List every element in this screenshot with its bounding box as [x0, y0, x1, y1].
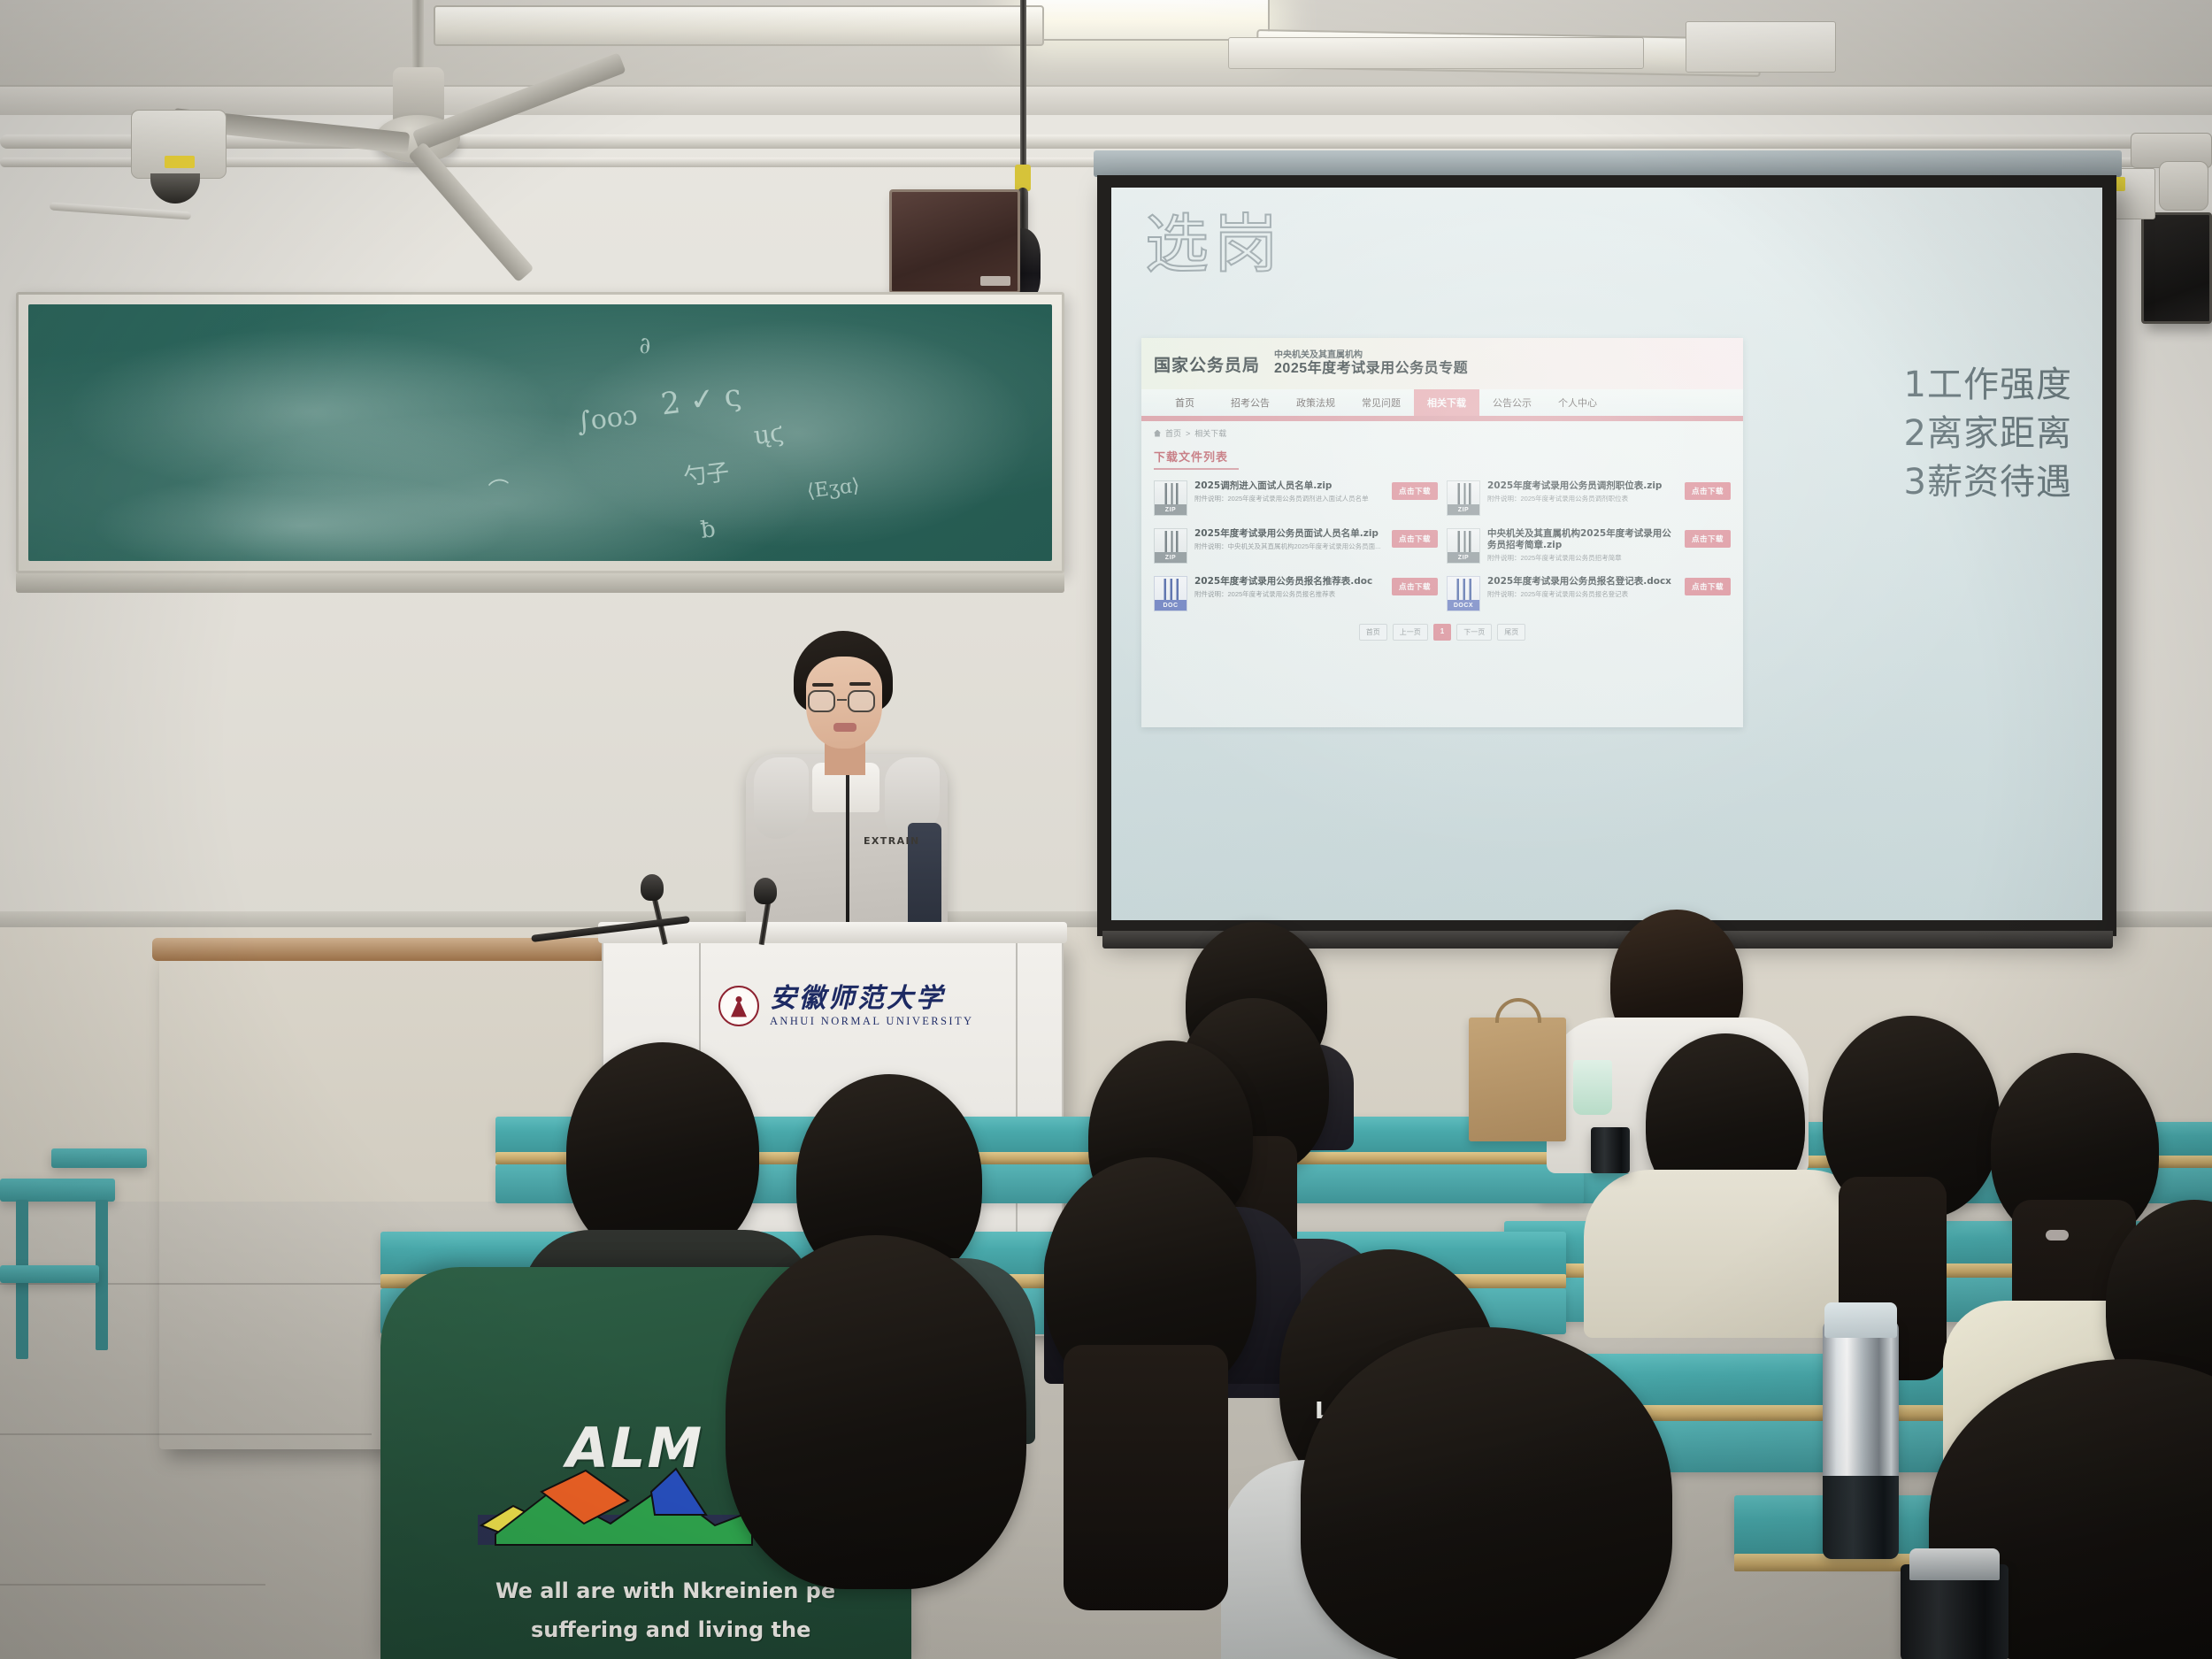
thermos-cap — [1824, 1302, 1897, 1338]
file-description: 附件说明：2025年度考试录用公务员招考简章 — [1487, 554, 1678, 562]
file-description: 附件说明：2025年度考试录用公务员调剂进入面试人员名单 — [1194, 495, 1385, 503]
ceiling-panel — [1228, 37, 1644, 69]
file-row[interactable]: DOC 2025年度考试录用公务员报名推荐表.doc 附件说明：2025年度考试… — [1154, 572, 1438, 615]
zip-file-icon: ZIP — [1154, 480, 1187, 516]
audience-head-foreground — [726, 1235, 1026, 1589]
speaker-glasses-right — [848, 690, 875, 712]
speaker-mouth — [833, 723, 856, 732]
file-name[interactable]: 2025年度考试录用公务员报名推荐表.doc — [1194, 576, 1385, 588]
projection-screen-frame: 选岗 1工作强度 2离家距离 3薪资待遇 国家公务员局 中央机关及其直属机构 2… — [1097, 175, 2116, 936]
doc-file-icon: DOC — [1154, 576, 1187, 611]
site-subtitle-line2: 2025年度考试录用公务员专题 — [1274, 361, 1468, 377]
side-desk-upper — [51, 1148, 147, 1168]
pagination[interactable]: 首页 上一页 1 下一页 尾页 — [1141, 615, 1743, 641]
download-button[interactable]: 点击下载 — [1392, 482, 1438, 500]
podium-mic-head — [641, 874, 664, 901]
download-list-heading: 下载文件列表 — [1141, 442, 1743, 470]
classroom-scene: ∂ 2 ✓ ς ∫ooɔ ųϛ 勺子 ⟨Eʒɑ⟩ ƀ ⌒ 选岗 1工作强度 2离… — [0, 0, 2212, 1659]
file-name[interactable]: 2025年度考试录用公务员面试人员名单.zip — [1194, 528, 1385, 540]
speaker-eyebrow-left — [812, 683, 833, 687]
chalkboard-frame: ∂ 2 ✓ ς ∫ooɔ ųϛ 勺子 ⟨Eʒɑ⟩ ƀ ⌒ — [16, 292, 1064, 573]
docx-file-icon: DOCX — [1447, 576, 1480, 611]
security-camera — [131, 110, 227, 179]
file-type-tag: ZIP — [1155, 552, 1187, 563]
hanging-mic-stem — [1020, 0, 1026, 166]
download-button[interactable]: 点击下载 — [1685, 530, 1731, 548]
chalkboard: ∂ 2 ✓ ς ∫ooɔ ųϛ 勺子 ⟨Eʒɑ⟩ ƀ ⌒ — [28, 304, 1052, 561]
speaker-hood-left — [754, 757, 809, 839]
green-shirt-mountain-logo — [478, 1460, 770, 1557]
projector-body — [2159, 161, 2208, 211]
nav-item-announcements[interactable]: 招考公告 — [1217, 389, 1283, 416]
ceiling-light — [434, 5, 1044, 46]
side-desk — [0, 1179, 115, 1202]
nav-item-policy[interactable]: 政策法规 — [1283, 389, 1348, 416]
slide-bullet-list: 1工作强度 2离家距离 3薪资待遇 — [1904, 361, 2072, 508]
file-type-tag: ZIP — [1448, 552, 1479, 563]
floor-seam — [0, 1584, 265, 1586]
file-name[interactable]: 2025年度考试录用公务员调剂职位表.zip — [1487, 480, 1678, 492]
speaker-jacket-logo: EXTRAIN — [864, 835, 920, 847]
home-icon — [1154, 430, 1161, 437]
camera-label — [165, 156, 195, 168]
download-button[interactable]: 点击下载 — [1392, 578, 1438, 595]
fan-rod — [412, 0, 424, 74]
speaker-badge — [980, 276, 1010, 286]
file-name[interactable]: 2025年度考试录用公务员报名登记表.docx — [1487, 576, 1678, 588]
file-type-tag: ZIP — [1448, 504, 1479, 515]
slide-bullet-3: 3薪资待遇 — [1904, 458, 2072, 507]
file-type-tag: DOCX — [1448, 600, 1479, 611]
pagination-last[interactable]: 尾页 — [1497, 624, 1525, 641]
pagination-first[interactable]: 首页 — [1359, 624, 1387, 641]
file-row[interactable]: DOCX 2025年度考试录用公务员报名登记表.docx 附件说明：2025年度… — [1447, 572, 1731, 615]
site-nav[interactable]: 首页 招考公告 政策法规 常见问题 相关下载 公告公示 个人中心 — [1141, 389, 1743, 416]
speaker-glasses-left — [808, 690, 835, 712]
university-name-cn: 安徽师范大学 — [770, 984, 973, 1013]
podium-university-logo: 安徽师范大学 ANHUI NORMAL UNIVERSITY — [718, 984, 1010, 1028]
pagination-prev[interactable]: 上一页 — [1393, 624, 1428, 641]
site-brand: 国家公务员局 — [1154, 352, 1260, 376]
podium-side-top — [152, 938, 612, 961]
green-shirt-line2: suffering and living the — [531, 1617, 810, 1642]
file-list: ZIP 2025调剂进入面试人员名单.zip 附件说明：2025年度考试录用公务… — [1141, 470, 1743, 615]
download-button[interactable]: 点击下载 — [1685, 482, 1731, 500]
nav-item-faq[interactable]: 常见问题 — [1348, 389, 1414, 416]
site-subtitle-line1: 中央机关及其直属机构 — [1274, 350, 1468, 360]
pagination-next[interactable]: 下一页 — [1456, 624, 1492, 641]
nav-item-home[interactable]: 首页 — [1152, 389, 1217, 416]
file-type-tag: DOC — [1155, 600, 1187, 611]
nav-item-downloads[interactable]: 相关下载 — [1414, 389, 1479, 416]
university-seal-icon — [718, 986, 759, 1026]
desk-item — [1591, 1127, 1630, 1173]
wall-speaker-left — [889, 189, 1020, 294]
file-name[interactable]: 2025调剂进入面试人员名单.zip — [1194, 480, 1385, 492]
download-button[interactable]: 点击下载 — [1685, 578, 1731, 595]
site-header: 国家公务员局 中央机关及其直属机构 2025年度考试录用公务员专题 — [1141, 338, 1743, 389]
university-name-en: ANHUI NORMAL UNIVERSITY — [770, 1016, 973, 1028]
podium-mic-head — [754, 878, 777, 904]
zip-file-icon: ZIP — [1447, 480, 1480, 516]
screen-roller — [1094, 150, 2122, 177]
audience-head-foreground — [1301, 1327, 1672, 1659]
slide-bullet-2: 2离家距离 — [1904, 410, 2072, 458]
audience-head — [566, 1042, 759, 1262]
slide-title: 选岗 — [1145, 212, 1283, 276]
file-name[interactable]: 中央机关及其直属机构2025年度考试录用公务员招考简章.zip — [1487, 528, 1678, 551]
speaker-glasses-bridge — [837, 699, 847, 701]
side-desk-shelf — [0, 1265, 99, 1283]
speaker-eyebrow-right — [849, 682, 871, 686]
ceiling-light — [1022, 0, 1270, 41]
thermos-lower — [1823, 1476, 1899, 1559]
file-description: 附件说明：2025年度考试录用公务员调剂职位表 — [1487, 495, 1678, 503]
pagination-page-1[interactable]: 1 — [1433, 624, 1451, 641]
green-cup — [1573, 1060, 1612, 1115]
zip-file-icon: ZIP — [1447, 528, 1480, 564]
file-row[interactable]: ZIP 2025调剂进入面试人员名单.zip 附件说明：2025年度考试录用公务… — [1154, 477, 1438, 519]
file-row[interactable]: ZIP 中央机关及其直属机构2025年度考试录用公务员招考简章.zip 附件说明… — [1447, 525, 1731, 567]
site-brand-subtitle: 中央机关及其直属机构 2025年度考试录用公务员专题 — [1274, 350, 1468, 376]
file-description: 附件说明：2025年度考试录用公务员报名推荐表 — [1194, 590, 1385, 598]
hair-tie — [2046, 1230, 2069, 1240]
slide-bullet-1: 1工作强度 — [1904, 361, 2072, 410]
file-description: 附件说明：2025年度考试录用公务员报名登记表 — [1487, 590, 1678, 598]
wall-speaker-right — [2141, 212, 2212, 324]
nav-item-notices[interactable]: 公告公示 — [1479, 389, 1545, 416]
black-thermos-cap — [1909, 1548, 2000, 1580]
breadcrumb: 首页 > 相关下载 — [1141, 421, 1743, 442]
green-shirt-line1: We all are with Nkreinien pe — [495, 1578, 835, 1603]
embedded-website-screenshot: 国家公务员局 中央机关及其直属机构 2025年度考试录用公务员专题 首页 招考公… — [1141, 338, 1743, 727]
download-button[interactable]: 点击下载 — [1392, 530, 1438, 548]
chalk-tray — [16, 573, 1064, 593]
ceiling-beam — [0, 85, 2212, 115]
paper-bag — [1469, 1018, 1566, 1141]
ceiling-duct — [1686, 21, 1836, 73]
breadcrumb-current: 相关下载 — [1194, 427, 1226, 439]
breadcrumb-separator: > — [1186, 429, 1190, 438]
breadcrumb-home[interactable]: 首页 — [1165, 427, 1181, 439]
file-description: 附件说明：中央机关及其直属机构2025年度考试录用公务员面... — [1194, 542, 1385, 550]
audience-long-hair — [1064, 1345, 1228, 1610]
projected-slide: 选岗 1工作强度 2离家距离 3薪资待遇 国家公务员局 中央机关及其直属机构 2… — [1111, 188, 2102, 920]
download-list-title: 下载文件列表 — [1154, 448, 1731, 465]
file-row[interactable]: ZIP 2025年度考试录用公务员面试人员名单.zip 附件说明：中央机关及其直… — [1154, 525, 1438, 567]
file-row[interactable]: ZIP 2025年度考试录用公务员调剂职位表.zip 附件说明：2025年度考试… — [1447, 477, 1731, 519]
nav-item-personal-center[interactable]: 个人中心 — [1545, 389, 1610, 416]
zip-file-icon: ZIP — [1154, 528, 1187, 564]
file-type-tag: ZIP — [1155, 504, 1187, 515]
